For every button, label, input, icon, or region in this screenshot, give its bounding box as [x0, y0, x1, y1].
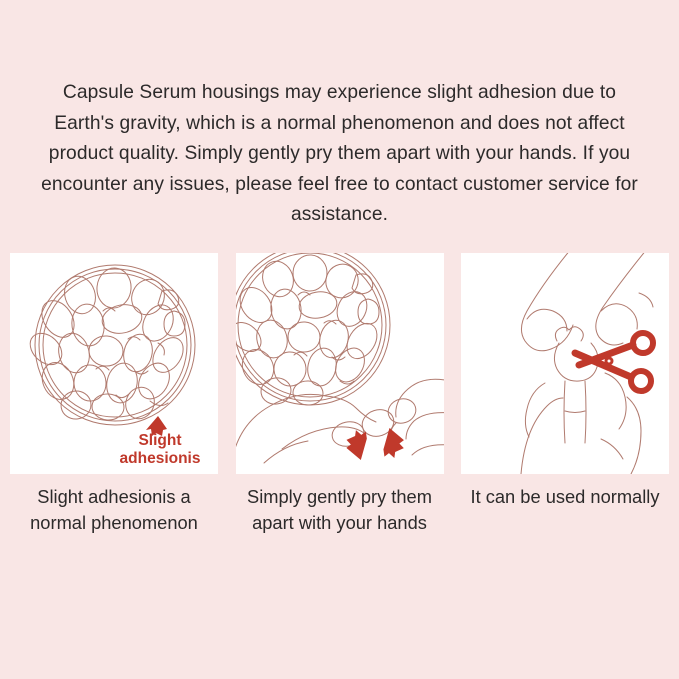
- instruction-graphic: Capsule Serum housings may experience sl…: [0, 0, 679, 679]
- scissors-icon: [575, 333, 653, 391]
- arrow-left: [343, 429, 367, 461]
- scissors-pivot: [606, 358, 612, 364]
- adhesion-annotation-line1: Slight: [138, 432, 181, 449]
- upper-finger-left: [521, 253, 573, 351]
- capsule-cluster: [24, 266, 189, 423]
- adhesion-annotation-line2: adhesionis: [120, 450, 201, 467]
- caption-panel-3: It can be used normally: [461, 484, 669, 535]
- intro-paragraph: Capsule Serum housings may experience sl…: [40, 78, 639, 231]
- lower-fingers: [521, 373, 641, 474]
- caption-panel-1: Slight adhesionis a normal phenomenon: [10, 484, 218, 535]
- held-capsule: [554, 327, 598, 443]
- jar-middle-ring: [39, 269, 191, 421]
- caption-row: Slight adhesionis a normal phenomenon Si…: [10, 484, 669, 535]
- scissors-handle-lower: [631, 371, 651, 391]
- caption-panel-2: Simply gently pry them apart with your h…: [236, 484, 444, 535]
- scissors-handle-upper: [633, 333, 653, 353]
- panel-hands-pry: [236, 253, 444, 474]
- left-hand: [236, 394, 397, 474]
- panel-jar-adhesion: Slight adhesionis: [10, 253, 218, 474]
- illustration-panel-row: Slight adhesionis: [10, 253, 669, 474]
- panel-scissors-cut: [461, 253, 669, 474]
- arrow-right: [382, 428, 406, 460]
- pry-apart-arrows: [343, 428, 405, 461]
- capsule-cluster: [236, 254, 383, 407]
